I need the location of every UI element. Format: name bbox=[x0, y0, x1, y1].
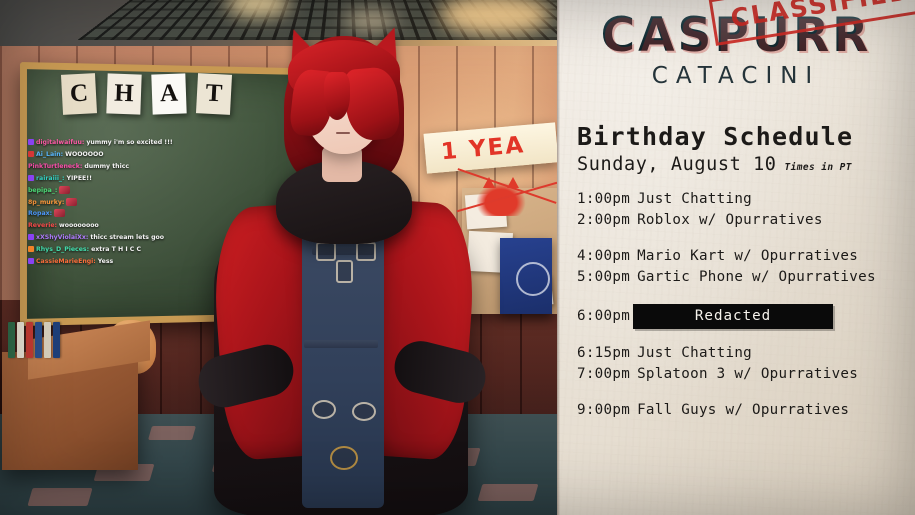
schedule-activity: Roblox w/ Opurratives bbox=[637, 212, 823, 228]
schedule-group: 6:15pmJust Chatting7:00pmSplatoon 3 w/ O… bbox=[577, 343, 907, 386]
chat-username: Ai_Lain: bbox=[36, 151, 63, 158]
chat-text: yummy i'm so excited !!! bbox=[86, 139, 172, 146]
redaction-bar: Redacted bbox=[633, 304, 833, 329]
chat-username: CassieMarieEngi: bbox=[36, 258, 96, 265]
schedule-time: 5:00pm bbox=[577, 269, 630, 285]
cardboard-box bbox=[2, 352, 138, 470]
stream-overlay: C H A T digitalwaifuu:yummy i'm so excit… bbox=[0, 0, 915, 515]
redacted-schedule-row: 6:00pmRedacted bbox=[577, 304, 907, 329]
chat-username: digitalwaifuu: bbox=[36, 139, 84, 146]
schedule-time: 9:00pm bbox=[577, 402, 630, 418]
schedule-time: 6:00pm bbox=[577, 306, 630, 327]
chat-username: Ropax: bbox=[28, 210, 52, 217]
chat-emote-icon bbox=[66, 198, 77, 206]
chat-badge-icon bbox=[28, 258, 34, 264]
schedule-activity: Splatoon 3 w/ Opurratives bbox=[637, 366, 858, 382]
schedule-group: 4:00pmMario Kart w/ Opurratives5:00pmGar… bbox=[577, 246, 907, 289]
chat-username: bepipa_: bbox=[28, 187, 57, 194]
chat-text: YIPEE!! bbox=[67, 175, 92, 182]
chat-text: extra T H I C C bbox=[91, 246, 141, 253]
chat-badge-icon bbox=[28, 246, 34, 252]
schedule-time: 2:00pm bbox=[577, 212, 630, 228]
logo-sub-text: CATACINI bbox=[571, 63, 901, 89]
schedule-groups: 1:00pmJust Chatting2:00pmRoblox w/ Opurr… bbox=[577, 189, 907, 421]
chat-badge-icon bbox=[28, 234, 34, 240]
schedule-group: 9:00pmFall Guys w/ Opurratives bbox=[577, 400, 907, 421]
chat-badge-icon bbox=[28, 151, 34, 157]
schedule-row: 6:15pmJust Chatting bbox=[577, 343, 907, 364]
chat-badge-icon bbox=[28, 139, 34, 145]
folder-stack bbox=[8, 322, 60, 358]
schedule-group: 1:00pmJust Chatting2:00pmRoblox w/ Opurr… bbox=[577, 189, 907, 232]
schedule-row: 9:00pmFall Guys w/ Opurratives bbox=[577, 400, 907, 421]
chat-username: 8p_murky: bbox=[28, 199, 64, 206]
schedule-date-row: Sunday, August 10 Times in PT bbox=[577, 154, 907, 175]
chat-username: xXShyViolaiXx: bbox=[36, 234, 88, 241]
chat-text: dummy thicc bbox=[84, 163, 129, 170]
chat-emote-icon bbox=[54, 209, 65, 217]
chat-text: WOOOOOO bbox=[65, 151, 103, 158]
schedule-activity: Mario Kart w/ Opurratives bbox=[637, 248, 858, 264]
schedule-title: Birthday Schedule bbox=[577, 122, 907, 151]
chat-text: thicc stream lets goo bbox=[90, 234, 164, 241]
chat-sign-letter: C bbox=[61, 73, 97, 115]
chat-username: rairaiii_: bbox=[36, 175, 65, 182]
schedule-time: 1:00pm bbox=[577, 191, 630, 207]
chat-badge-icon bbox=[28, 175, 34, 181]
chat-text: Yess bbox=[98, 258, 113, 265]
schedule-row: 4:00pmMario Kart w/ Opurratives bbox=[577, 246, 907, 267]
schedule-row: 5:00pmGartic Phone w/ Opurratives bbox=[577, 267, 907, 288]
schedule-activity: Just Chatting bbox=[637, 345, 752, 361]
chat-username: PinkTurtleneck: bbox=[28, 163, 82, 170]
chat-emote-icon bbox=[59, 186, 70, 194]
timezone-note: Times in PT bbox=[785, 162, 852, 173]
hair-bang bbox=[324, 72, 350, 120]
schedule-time: 6:15pm bbox=[577, 345, 630, 361]
schedule-row: 2:00pmRoblox w/ Opurratives bbox=[577, 210, 907, 231]
chat-username: Reverie: bbox=[28, 222, 57, 229]
blue-poster bbox=[500, 238, 552, 314]
chat-text: woooooooo bbox=[59, 222, 99, 229]
schedule-time: 7:00pm bbox=[577, 366, 630, 382]
chat-username: Rhys_D_Pieces: bbox=[36, 246, 89, 253]
vtuber-avatar bbox=[196, 10, 486, 515]
schedule-activity: Fall Guys w/ Opurratives bbox=[637, 402, 849, 418]
schedule-panel: CLASSIFIED CASPURR CATACINI Birthday Sch… bbox=[557, 0, 915, 515]
schedule-block: Birthday Schedule Sunday, August 10 Time… bbox=[577, 122, 907, 421]
schedule-activity: Just Chatting bbox=[637, 191, 752, 207]
schedule-row: 1:00pmJust Chatting bbox=[577, 189, 907, 210]
schedule-row: 7:00pmSplatoon 3 w/ Opurratives bbox=[577, 364, 907, 385]
chat-sign-letter: H bbox=[106, 73, 141, 114]
chat-sign-letter: A bbox=[151, 73, 186, 114]
schedule-date: Sunday, August 10 bbox=[577, 154, 777, 175]
vtuber-scene: C H A T digitalwaifuu:yummy i'm so excit… bbox=[0, 0, 557, 515]
schedule-time: 4:00pm bbox=[577, 248, 630, 264]
schedule-activity: Gartic Phone w/ Opurratives bbox=[637, 269, 876, 285]
panel-edge bbox=[557, 0, 560, 515]
